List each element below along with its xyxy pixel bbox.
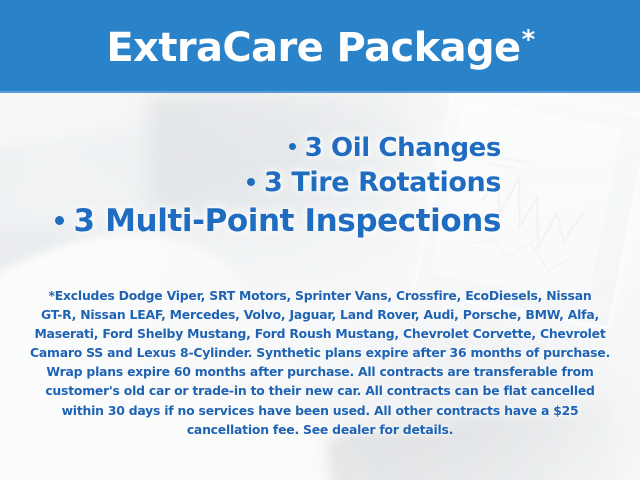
benefit-label: 3 Oil Changes <box>305 133 501 163</box>
disclaimer-line: Wrap plans expire 60 months after purcha… <box>30 362 610 381</box>
benefits-list: 3 Oil Changes 3 Tire Rotations 3 Multi-P… <box>0 132 640 242</box>
disclaimer-text: *Excludes Dodge Viper, SRT Motors, Sprin… <box>30 286 610 439</box>
benefit-item-tire-rotations: 3 Tire Rotations <box>0 165 501 201</box>
disclaimer-line: cancellation fee. See dealer for details… <box>30 420 610 439</box>
benefit-label: 3 Tire Rotations <box>264 167 501 198</box>
extracare-package-ad: ExtraCare Package* 3 Oil Changes 3 Tire … <box>0 0 640 480</box>
page-title: ExtraCare Package* <box>106 28 533 68</box>
bullet-dot-icon <box>55 216 64 225</box>
disclaimer-line: Camaro SS and Lexus 8-Cylinder. Syntheti… <box>30 343 610 362</box>
disclaimer-line: GT-R, Nissan LEAF, Mercedes, Volvo, Jagu… <box>30 305 610 324</box>
disclaimer-line: within 30 days if no services have been … <box>30 401 610 420</box>
disclaimer-line: customer's old car or trade-in to their … <box>30 381 610 400</box>
disclaimer-line: Maserati, Ford Shelby Mustang, Ford Rous… <box>30 324 610 343</box>
disclaimer-line: *Excludes Dodge Viper, SRT Motors, Sprin… <box>30 286 610 305</box>
benefit-item-oil-changes: 3 Oil Changes <box>0 132 501 165</box>
header-banner: ExtraCare Package* <box>0 0 640 93</box>
page-title-asterisk: * <box>522 25 535 55</box>
bullet-dot-icon <box>289 143 296 150</box>
benefit-label: 3 Multi-Point Inspections <box>74 203 501 239</box>
page-title-text: ExtraCare Package <box>106 25 520 71</box>
benefit-item-multi-point-inspections: 3 Multi-Point Inspections <box>0 201 501 242</box>
bullet-dot-icon <box>247 178 255 186</box>
